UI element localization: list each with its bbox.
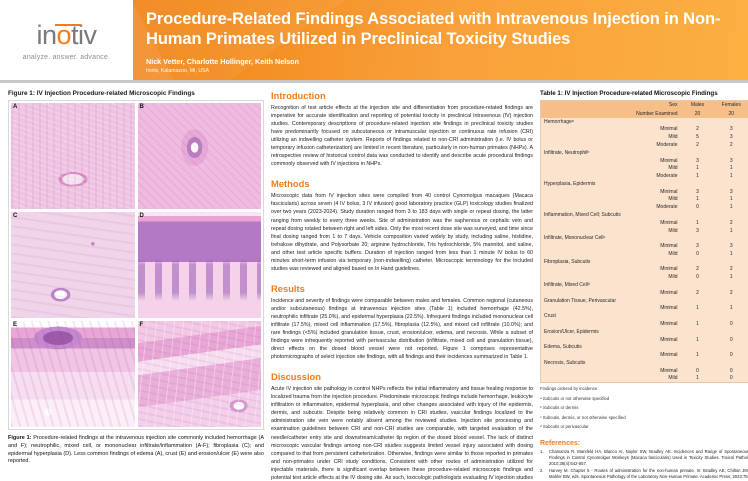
table-row: Minimal33 (541, 157, 748, 165)
females-count: 3 (715, 242, 748, 250)
header-males: Males (681, 101, 715, 110)
panel-label-c: C (13, 213, 17, 219)
finding-group-row: Infiltrate, Mononuclear Cellᶜ (541, 234, 748, 242)
histology-panel-a: A (11, 103, 135, 209)
males-count: 2 (681, 266, 715, 274)
text-column: Introduction Recognition of test article… (271, 90, 533, 481)
figure-caption-label: Figure 1: (8, 435, 31, 441)
panel-label-e: E (13, 322, 17, 328)
males-count: 1 (681, 320, 715, 328)
figure-caption: Figure 1: Procedure-related findings at … (8, 435, 264, 466)
panel-label-b: B (140, 104, 144, 110)
males-count: 2 (681, 289, 715, 297)
severity-label: Minimal (557, 336, 680, 344)
table-footnote: ᶜ Subcutis, dermis, or not otherwise spe… (540, 415, 748, 421)
findings-table-head: Sex Males Females Number Examined 20 20 (541, 101, 748, 118)
table-row: Minimal33 (541, 242, 748, 250)
severity-label: Mild (557, 250, 680, 258)
section-body-introduction: Recognition of test article effects at t… (271, 104, 533, 168)
severity-indent (541, 164, 558, 172)
table-row: Moderate11 (541, 172, 748, 180)
figure-caption-text: Procedure-related findings at the intrav… (8, 435, 264, 464)
males-count: 1 (681, 305, 715, 313)
males-count: 1 (681, 172, 715, 180)
table-row: Minimal12 (541, 219, 748, 227)
table-row: Minimal00 (541, 367, 748, 375)
males-count: 0 (681, 203, 715, 211)
females-count: 1 (715, 227, 748, 235)
severity-indent (541, 305, 558, 313)
section-body-methods: Microscopic data from IV injection sites… (271, 192, 533, 272)
finding-name: Crust (541, 312, 748, 320)
severity-indent (541, 196, 558, 204)
reference-item: Harvey M. Chapter 5 - Routes of administ… (540, 468, 748, 481)
severity-indent (541, 273, 558, 281)
finding-group-row: Hyperplasia, Epidermis (541, 180, 748, 188)
inotiv-logo: inotiv analyze. answer. advance. (0, 0, 133, 80)
section-methods: Methods Microscopic data from IV injecti… (271, 178, 533, 272)
section-body-results: Incidence and severity of findings were … (271, 297, 533, 361)
reference-item: Chamanza R, Marxfeld HA, Blanco AI, Nayl… (540, 449, 748, 467)
males-count: 3 (681, 227, 715, 235)
males-count: 3 (681, 242, 715, 250)
section-results: Results Incidence and severity of findin… (271, 283, 533, 361)
histology-panel-f: F (138, 321, 262, 427)
finding-group-row: Edema, Subcutis (541, 343, 748, 351)
panel-label-d: D (140, 213, 144, 219)
section-discussion: Discussion Acute IV injection site patho… (271, 371, 533, 481)
severity-indent (541, 133, 558, 141)
severity-label: Moderate (557, 172, 680, 180)
histology-panel-c: C (11, 212, 135, 318)
severity-indent (541, 336, 558, 344)
females-count: 0 (715, 320, 748, 328)
header-females: Females (715, 101, 748, 110)
females-count: 1 (715, 250, 748, 258)
females-count: 0 (715, 375, 748, 383)
severity-indent (541, 141, 558, 149)
severity-label: Minimal (557, 305, 680, 313)
severity-indent (541, 126, 558, 134)
table-row: Minimal10 (541, 336, 748, 344)
table-row: Mild11 (541, 164, 748, 172)
females-count: 3 (715, 126, 748, 134)
severity-label: Mild (557, 196, 680, 204)
histology-panel-b: B (138, 103, 262, 209)
poster-body: Figure 1: IV Injection Procedure-related… (0, 83, 748, 481)
findings-table: Sex Males Females Number Examined 20 20 … (540, 100, 748, 383)
severity-label: Mild (557, 227, 680, 235)
table-header-row-number-examined: Number Examined 20 20 (541, 109, 748, 117)
finding-group-row: Necrosis, Subcutis (541, 359, 748, 367)
table-row: Mild10 (541, 375, 748, 383)
severity-label: Minimal (557, 320, 680, 328)
severity-label: Moderate (557, 141, 680, 149)
finding-group-row: Inflammation, Mixed Cell; Subcutis (541, 211, 748, 219)
header-number-examined-females: 20 (715, 109, 748, 117)
females-count: 3 (715, 157, 748, 165)
finding-name: Fibroplasia, Subcutis (541, 258, 748, 266)
logo-tagline: analyze. answer. advance. (23, 54, 111, 61)
severity-indent (541, 227, 558, 235)
females-count: 1 (715, 164, 748, 172)
section-heading-introduction: Introduction (271, 90, 533, 101)
severity-label: Minimal (557, 157, 680, 165)
finding-name: Hyperplasia, Epidermis (541, 180, 748, 188)
severity-label: Mild (557, 164, 680, 172)
males-count: 2 (681, 141, 715, 149)
males-count: 3 (681, 188, 715, 196)
table-row: Moderate01 (541, 203, 748, 211)
poster-root: inotiv analyze. answer. advance. Procedu… (0, 0, 748, 481)
males-count: 5 (681, 133, 715, 141)
table-row: Mild01 (541, 273, 748, 281)
females-count: 2 (715, 219, 748, 227)
females-count: 0 (715, 351, 748, 359)
males-count: 1 (681, 336, 715, 344)
poster-header: inotiv analyze. answer. advance. Procedu… (0, 0, 748, 80)
table-row: Mild31 (541, 227, 748, 235)
logo-o-ring-icon: o (56, 22, 71, 49)
severity-indent (541, 367, 558, 375)
section-body-discussion: Acute IV injection site pathology in con… (271, 385, 533, 481)
section-heading-discussion: Discussion (271, 371, 533, 382)
header-sex-label: Sex (557, 101, 680, 110)
females-count: 2 (715, 141, 748, 149)
severity-indent (541, 157, 558, 165)
males-count: 2 (681, 126, 715, 134)
table-row: Minimal22 (541, 266, 748, 274)
table-footnotes: Findings ordered by incidence.ᵃ Subcutis… (540, 386, 748, 430)
table-row: Moderate22 (541, 141, 748, 149)
finding-name: Infiltrate, Mixed Cellᵈ (541, 281, 748, 289)
table-row: Minimal22 (541, 289, 748, 297)
females-count: 1 (715, 196, 748, 204)
table-row: Minimal33 (541, 188, 748, 196)
figure-title: Figure 1: IV Injection Procedure-related… (8, 90, 264, 97)
severity-indent (541, 219, 558, 227)
table-row: Minimal10 (541, 351, 748, 359)
table-row: Mild11 (541, 196, 748, 204)
males-count: 0 (681, 367, 715, 375)
severity-indent (541, 375, 558, 383)
histology-image-f (138, 321, 262, 427)
figure-column: Figure 1: IV Injection Procedure-related… (8, 90, 264, 481)
females-count: 2 (715, 266, 748, 274)
findings-table-body: HemorrhageᵃMinimal23Mild53Moderate22Infi… (541, 118, 748, 383)
header-spacer (541, 101, 558, 110)
severity-label: Minimal (557, 219, 680, 227)
histology-image-e (11, 321, 135, 427)
males-count: 1 (681, 375, 715, 383)
severity-label: Moderate (557, 203, 680, 211)
finding-name: Infiltrate, Neutrophilᵇ (541, 149, 748, 157)
severity-label: Minimal (557, 126, 680, 134)
females-count: 3 (715, 133, 748, 141)
histology-image-d (138, 212, 262, 318)
poster-affiliation: Inotiv, Kalamazoo, MI, USA (146, 68, 746, 74)
males-count: 0 (681, 273, 715, 281)
finding-group-row: Fibroplasia, Subcutis (541, 258, 748, 266)
histology-panel-d: D (138, 212, 262, 318)
table-footnote: ᵇ Subcutis or dermis (540, 405, 748, 411)
severity-label: Minimal (557, 289, 680, 297)
finding-group-row: Hemorrhageᵃ (541, 118, 748, 126)
males-count: 1 (681, 196, 715, 204)
severity-label: Minimal (557, 242, 680, 250)
table-row: Minimal23 (541, 126, 748, 134)
header-text-block: Procedure-Related Findings Associated wi… (133, 0, 746, 80)
males-count: 1 (681, 351, 715, 359)
finding-name: Inflammation, Mixed Cell; Subcutis (541, 211, 748, 219)
section-heading-results: Results (271, 283, 533, 294)
severity-label: Mild (557, 375, 680, 383)
figure-panel-grid: A B C D E (8, 100, 264, 430)
males-count: 1 (681, 219, 715, 227)
logo-word-prefix: in (36, 20, 56, 50)
references-heading: References: (540, 440, 748, 447)
females-count: 2 (715, 289, 748, 297)
males-count: 1 (681, 164, 715, 172)
finding-group-row: Crust (541, 312, 748, 320)
finding-group-row: Granulation Tissue, Perivascular (541, 297, 748, 305)
finding-group-row: Infiltrate, Neutrophilᵇ (541, 149, 748, 157)
references-list: Chamanza R, Marxfeld HA, Blanco AI, Nayl… (540, 449, 748, 481)
poster-title: Procedure-Related Findings Associated wi… (146, 9, 746, 50)
poster-authors: Nick Vetter, Charlotte Hollinger, Keith … (146, 57, 746, 66)
table-title: Table 1: IV Injection Procedure-related … (540, 90, 748, 97)
header-number-examined-males: 20 (681, 109, 715, 117)
finding-name: Necrosis, Subcutis (541, 359, 748, 367)
severity-label: Mild (557, 273, 680, 281)
finding-name: Hemorrhageᵃ (541, 118, 748, 126)
table-footnote: ᵈ Subcutis or perivascular (540, 424, 748, 430)
severity-indent (541, 351, 558, 359)
finding-name: Erosion/Ulcer, Epidermis (541, 328, 748, 336)
panel-label-f: F (140, 322, 144, 328)
females-count: 0 (715, 336, 748, 344)
finding-group-row: Erosion/Ulcer, Epidermis (541, 328, 748, 336)
histology-image-c (11, 212, 135, 318)
severity-indent (541, 203, 558, 211)
table-header-row-sex: Sex Males Females (541, 101, 748, 110)
table-column: Table 1: IV Injection Procedure-related … (540, 90, 748, 481)
finding-name: Edema, Subcutis (541, 343, 748, 351)
severity-indent (541, 188, 558, 196)
finding-name: Granulation Tissue, Perivascular (541, 297, 748, 305)
severity-label: Minimal (557, 367, 680, 375)
males-count: 0 (681, 250, 715, 258)
severity-indent (541, 320, 558, 328)
females-count: 0 (715, 367, 748, 375)
females-count: 1 (715, 172, 748, 180)
females-count: 1 (715, 305, 748, 313)
histology-image-b (138, 103, 262, 209)
females-count: 1 (715, 273, 748, 281)
severity-indent (541, 266, 558, 274)
males-count: 3 (681, 157, 715, 165)
histology-panel-e: E (11, 321, 135, 427)
finding-group-row: Infiltrate, Mixed Cellᵈ (541, 281, 748, 289)
panel-label-a: A (13, 104, 17, 110)
header-spacer-2 (541, 109, 558, 117)
section-introduction: Introduction Recognition of test article… (271, 90, 533, 168)
logo-wordmark: inotiv (36, 20, 96, 49)
severity-indent (541, 172, 558, 180)
severity-label: Minimal (557, 266, 680, 274)
severity-indent (541, 242, 558, 250)
severity-label: Minimal (557, 188, 680, 196)
histology-image-a (11, 103, 135, 209)
severity-indent (541, 289, 558, 297)
table-row: Minimal10 (541, 320, 748, 328)
females-count: 3 (715, 188, 748, 196)
header-number-examined-label: Number Examined (557, 109, 680, 117)
table-row: Mild01 (541, 250, 748, 258)
finding-name: Infiltrate, Mononuclear Cellᶜ (541, 234, 748, 242)
severity-label: Mild (557, 133, 680, 141)
females-count: 1 (715, 203, 748, 211)
severity-label: Minimal (557, 351, 680, 359)
table-row: Minimal11 (541, 305, 748, 313)
table-row: Mild53 (541, 133, 748, 141)
table-footnote: ᵃ Subcutis or not otherwise specified (540, 396, 748, 402)
severity-indent (541, 250, 558, 258)
section-heading-methods: Methods (271, 178, 533, 189)
table-footnote: Findings ordered by incidence. (540, 386, 748, 392)
